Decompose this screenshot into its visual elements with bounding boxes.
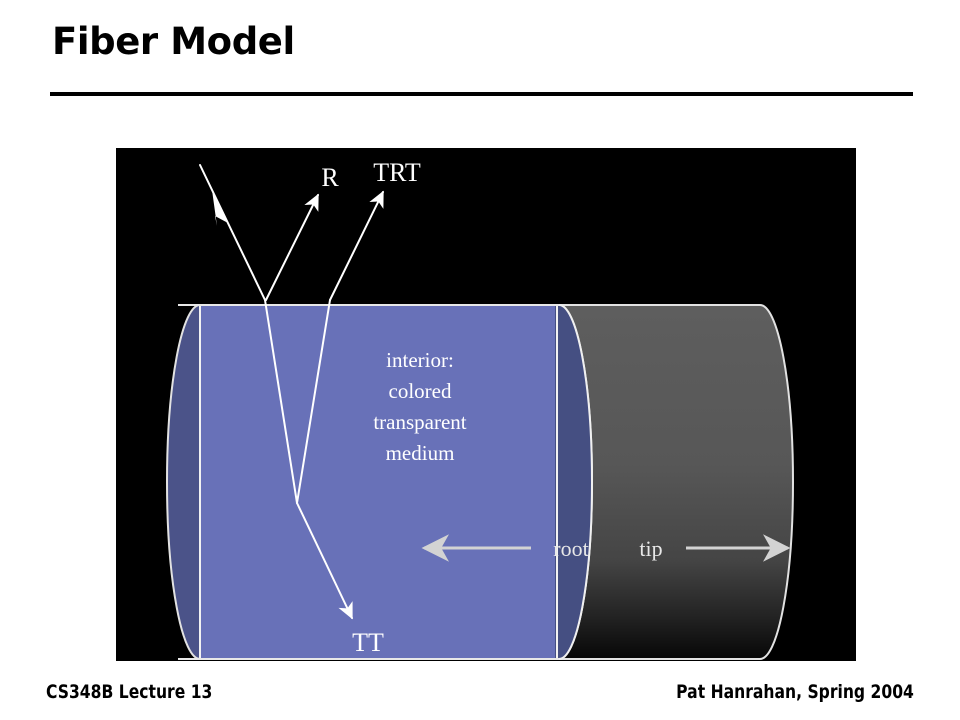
footer-author-label: Pat Hanrahan, Spring 2004: [676, 681, 914, 703]
interior-label-line-3: transparent: [373, 410, 466, 434]
interior-label-line-2: colored: [389, 379, 452, 403]
ray-incident-arrowhead: [212, 190, 228, 226]
ray-incident: [200, 165, 265, 300]
slide-root: Fiber Model: [0, 0, 960, 720]
ray-reflected: [266, 195, 318, 300]
root-label: root: [553, 536, 588, 561]
footer-lecture-label: CS348B Lecture 13: [46, 681, 212, 703]
ray-trt-exit: [330, 192, 383, 300]
title-divider: [50, 92, 913, 96]
cylinder-interior-body: [200, 305, 555, 659]
fiber-diagram: interior: colored transparent medium: [116, 148, 856, 661]
tip-label: tip: [639, 536, 662, 561]
cylinder-exterior-group: [559, 305, 793, 659]
figure-panel: interior: colored transparent medium: [116, 148, 856, 661]
ray-label-r: R: [321, 163, 339, 192]
cylinder-tip-body: [559, 305, 793, 659]
interior-label-line-1: interior:: [386, 348, 454, 372]
ray-label-trt: TRT: [373, 158, 421, 187]
cylinder-interior-group: [167, 305, 592, 659]
interior-label-line-4: medium: [386, 441, 455, 465]
page-title: Fiber Model: [52, 22, 295, 63]
cylinder-interior-left-cap: [167, 305, 200, 659]
ray-label-tt: TT: [352, 628, 384, 657]
